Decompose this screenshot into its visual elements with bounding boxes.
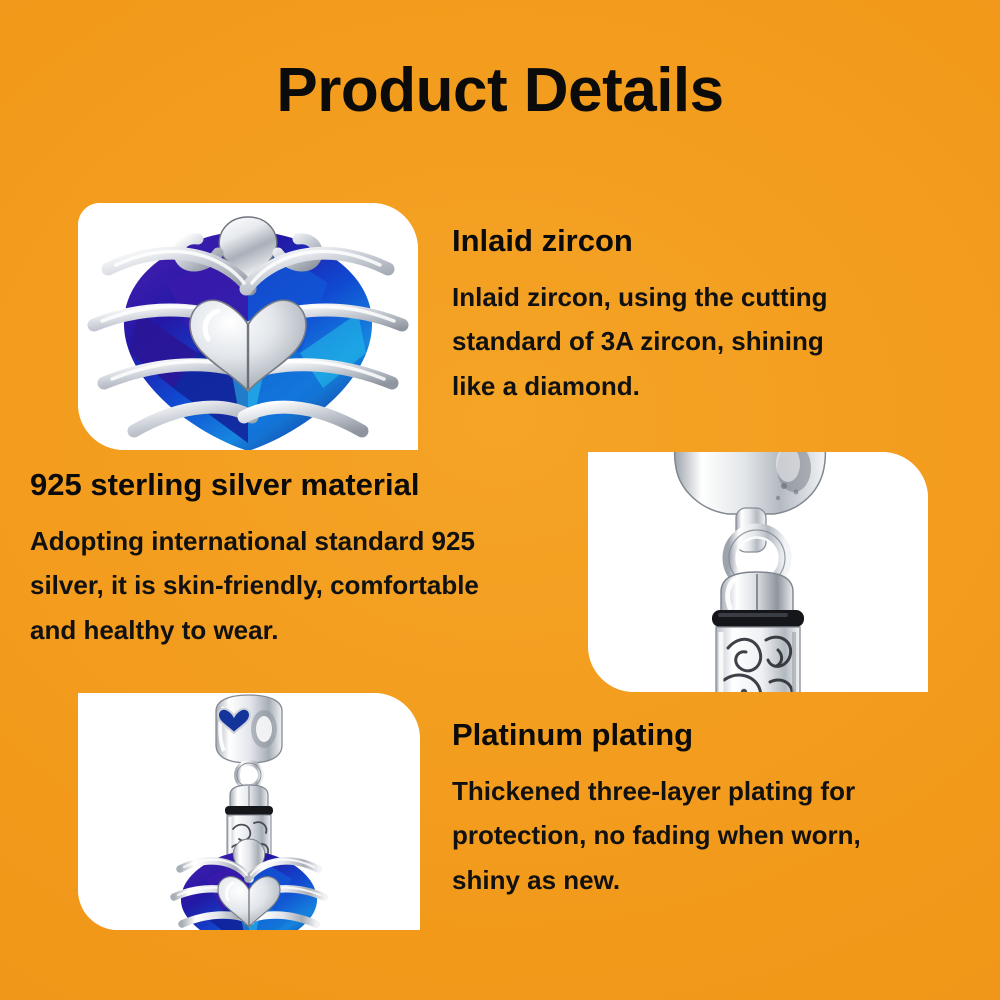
feature-body-platinum-plating: Thickened three-layer plating for protec… bbox=[452, 769, 942, 903]
zircon-heart-closeup-photo bbox=[78, 203, 418, 450]
feature-body-line: standard of 3A zircon, shining bbox=[452, 319, 930, 364]
feature-heading-inlaid-zircon: Inlaid zircon bbox=[452, 224, 930, 259]
filigree-barrel bbox=[716, 627, 800, 692]
feature-body-line: Thickened three-layer plating for bbox=[452, 769, 942, 814]
product-details-page: Product Details bbox=[0, 0, 1000, 1000]
feature-body-line: silver, it is skin-friendly, comfortable bbox=[30, 563, 575, 608]
feature-body-line: and healthy to wear. bbox=[30, 608, 575, 653]
feature-text-platinum-plating: Platinum plating Thickened three-layer p… bbox=[452, 718, 942, 903]
pendant-cap bbox=[230, 785, 268, 807]
feature-body-line: Adopting international standard 925 bbox=[30, 519, 575, 564]
feature-text-sterling-silver: 925 sterling silver material Adopting in… bbox=[30, 468, 575, 653]
feature-body-inlaid-zircon: Inlaid zircon, using the cutting standar… bbox=[452, 275, 930, 409]
full-pendant-photo bbox=[78, 693, 420, 930]
feature-body-sterling-silver: Adopting international standard 925 silv… bbox=[30, 519, 575, 653]
feature-body-line: Inlaid zircon, using the cutting bbox=[452, 275, 930, 320]
pendant-black-ring bbox=[225, 806, 273, 815]
full-pendant-illustration bbox=[78, 693, 420, 930]
black-o-ring bbox=[712, 610, 804, 627]
feature-body-line: protection, no fading when worn, bbox=[452, 813, 942, 858]
barrel-cap bbox=[721, 572, 793, 612]
silver-clasp-barrel-illustration bbox=[588, 452, 928, 692]
feature-text-inlaid-zircon: Inlaid zircon Inlaid zircon, using the c… bbox=[452, 224, 930, 409]
feature-heading-platinum-plating: Platinum plating bbox=[452, 718, 942, 753]
page-title: Product Details bbox=[0, 58, 1000, 123]
feature-heading-sterling-silver: 925 sterling silver material bbox=[30, 468, 575, 503]
zircon-heart-closeup-illustration bbox=[78, 203, 418, 450]
pendant-bail bbox=[216, 695, 282, 763]
silver-clasp-barrel-photo bbox=[588, 452, 928, 692]
feature-body-line: shiny as new. bbox=[452, 858, 942, 903]
feature-body-line: like a diamond. bbox=[452, 364, 930, 409]
